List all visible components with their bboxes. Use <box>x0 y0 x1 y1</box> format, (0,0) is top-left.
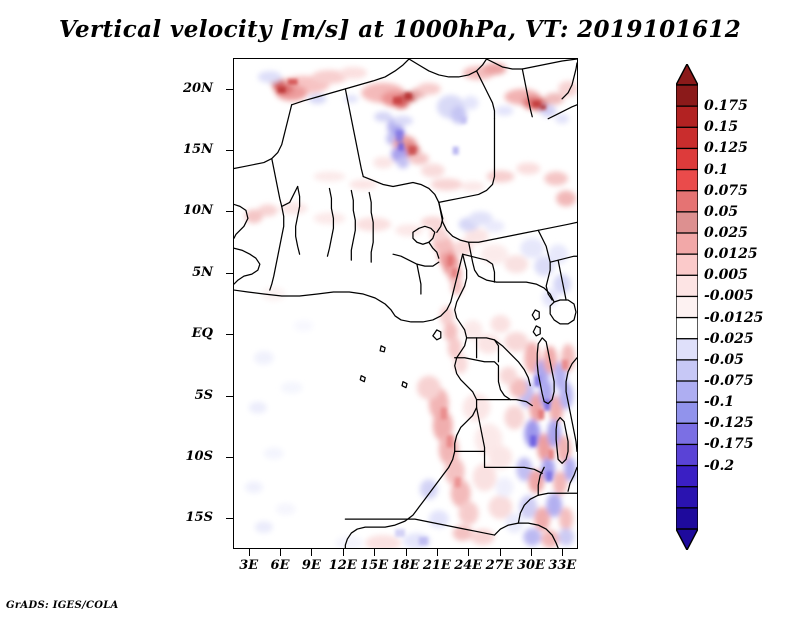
lat-tick <box>226 457 233 458</box>
lat-label: 10S <box>153 449 213 464</box>
lat-tick <box>226 211 233 212</box>
lat-label: 20N <box>153 81 213 96</box>
lat-tick <box>226 334 233 335</box>
colorbar <box>676 64 698 550</box>
lat-tick <box>226 518 233 519</box>
colorbar-tick-label: 0.075 <box>704 183 748 199</box>
lon-tick <box>406 549 407 556</box>
lon-tick <box>311 549 312 556</box>
colorbar-tick-label: -0.075 <box>704 373 754 389</box>
colorbar-tick-label: -0.025 <box>704 331 754 347</box>
lat-tick <box>226 396 233 397</box>
colorbar-tick-label: -0.005 <box>704 288 754 304</box>
lat-label: 10N <box>153 203 213 218</box>
colorbar-tick-label: 0.0125 <box>704 246 758 262</box>
lon-tick <box>249 549 250 556</box>
colorbar-tick-label: -0.1 <box>704 394 734 410</box>
lon-tick <box>374 549 375 556</box>
colorbar-tick-label: -0.05 <box>704 352 744 368</box>
lon-tick <box>500 549 501 556</box>
footer-credit: GrADS: IGES/COLA <box>6 600 119 611</box>
colorbar-tick-label: 0.175 <box>704 98 748 114</box>
lon-label: 33E <box>537 558 587 573</box>
colorbar-tick-label: -0.0125 <box>704 310 763 326</box>
colorbar-tick-label: 0.005 <box>704 267 748 283</box>
colorbar-tick-label: 0.15 <box>704 119 738 135</box>
colorbar-tick-label: -0.2 <box>704 458 734 474</box>
colorbar-tick-label: 0.025 <box>704 225 748 241</box>
lon-tick <box>531 549 532 556</box>
colorbar-tick-label: -0.125 <box>704 415 754 431</box>
lat-label: 15S <box>153 510 213 525</box>
lon-tick <box>437 549 438 556</box>
colorbar-tick-label: 0.1 <box>704 162 728 178</box>
lat-tick <box>226 89 233 90</box>
lat-tick <box>226 273 233 274</box>
colorbar-tick-label: 0.05 <box>704 204 738 220</box>
lon-tick <box>468 549 469 556</box>
lat-label: EQ <box>153 326 213 341</box>
lat-label: 5N <box>153 265 213 280</box>
page-title: Vertical velocity [m/s] at 1000hPa, VT: … <box>0 16 800 43</box>
map-plot-area <box>233 58 578 549</box>
lon-tick <box>280 549 281 556</box>
lon-tick <box>343 549 344 556</box>
lat-label: 15N <box>153 142 213 157</box>
lon-tick <box>562 549 563 556</box>
colorbar-tick-label: -0.175 <box>704 436 754 452</box>
colorbar-tick-label: 0.125 <box>704 140 748 156</box>
lat-label: 5S <box>153 388 213 403</box>
map-canvas <box>234 59 577 548</box>
lat-tick <box>226 150 233 151</box>
